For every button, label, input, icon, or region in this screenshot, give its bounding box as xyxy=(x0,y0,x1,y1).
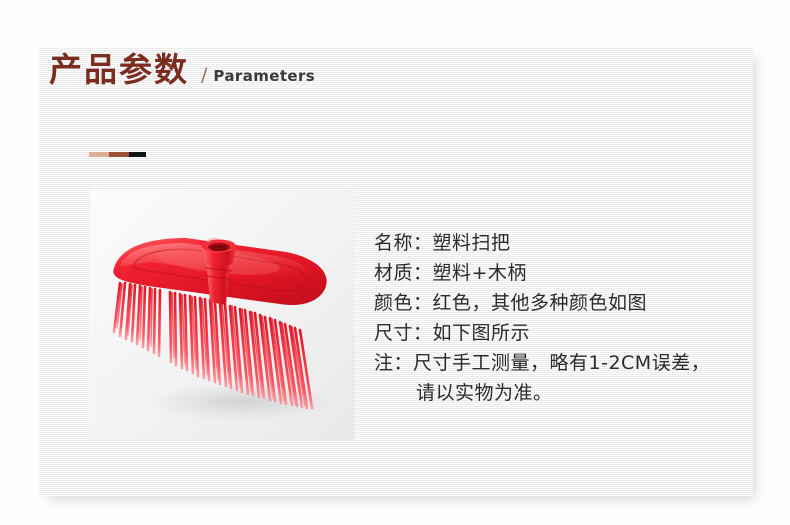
spec-line-name: 名称：塑料扫把 xyxy=(374,228,764,258)
section-header: 产品参数 / Parameters xyxy=(49,53,315,86)
page-title-chinese: 产品参数 xyxy=(49,53,189,86)
spec-line-color: 颜色：红色，其他多种颜色如图 xyxy=(374,288,764,318)
spec-line-size: 尺寸：如下图所示 xyxy=(374,318,764,348)
spec-line-note-continued: 请以实物为准。 xyxy=(374,378,764,408)
title-underline-rule xyxy=(89,152,146,157)
product-parameters-page: 产品参数 / Parameters xyxy=(0,0,790,525)
page-title-english: Parameters xyxy=(213,69,315,84)
product-photo xyxy=(90,190,355,440)
spec-list: 名称：塑料扫把 材质：塑料+木柄 颜色：红色，其他多种颜色如图 尺寸：如下图所示… xyxy=(374,228,764,408)
rule-segment-light xyxy=(89,152,109,157)
rule-segment-brown xyxy=(109,152,129,157)
title-separator: / xyxy=(201,66,207,85)
rule-segment-black xyxy=(129,152,146,157)
broom-illustration xyxy=(90,190,355,440)
spec-line-material: 材质：塑料+木柄 xyxy=(374,258,764,288)
spec-line-note: 注：尺寸手工测量，略有1-2CM误差， xyxy=(374,348,764,378)
